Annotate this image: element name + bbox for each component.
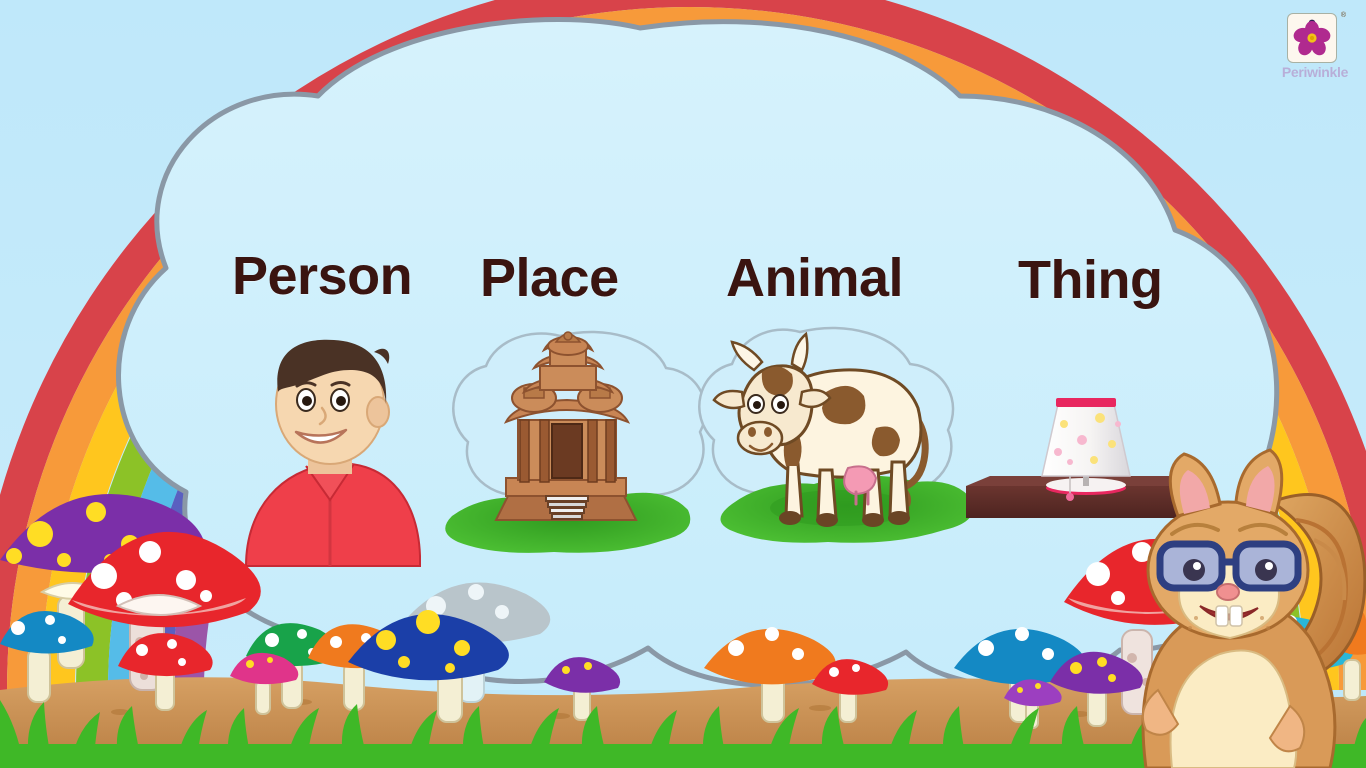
noun-category-labels: Person Place Animal Thing — [0, 240, 1366, 320]
label-person: Person — [232, 246, 412, 306]
trademark-symbol: ® — [1341, 12, 1346, 19]
label-thing: Thing — [1018, 250, 1162, 310]
label-animal: Animal — [726, 248, 903, 308]
logo-wordmark: Periwinkle — [1278, 64, 1352, 80]
logo-badge — [1288, 14, 1336, 62]
flower-icon — [1288, 14, 1336, 62]
scene-artwork — [0, 0, 1366, 768]
periwinkle-logo[interactable]: ® Periwinkle — [1282, 14, 1348, 86]
label-place: Place — [480, 248, 619, 308]
scene-canvas: Person Place Animal Thing ® Periwinkle — [0, 0, 1366, 768]
